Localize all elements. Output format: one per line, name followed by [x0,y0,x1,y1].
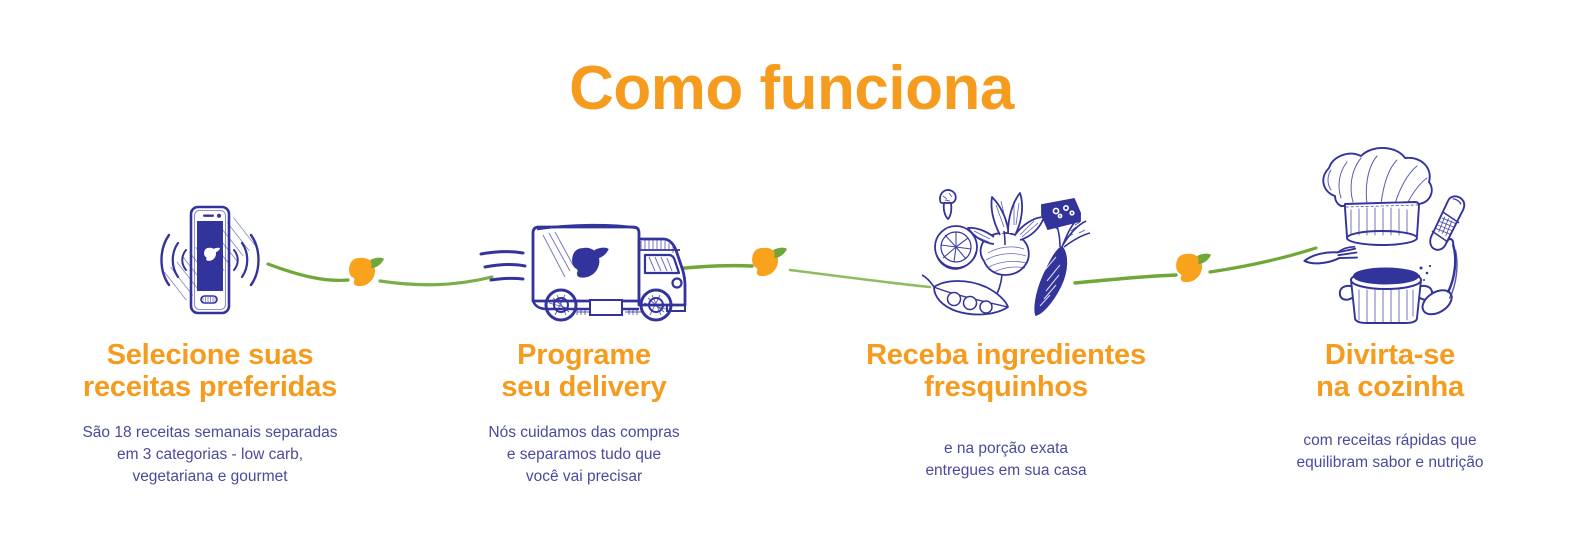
step-heading-line-2: receitas preferidas [32,371,388,403]
step-selecione: Selecione suas receitas preferidas São 1… [32,140,388,520]
step-receba: Receba ingredientes fresquinhos e na por… [836,140,1176,520]
mango-icon [1176,254,1211,283]
how-it-works-infographic: Como funciona [0,0,1583,541]
step-description-line-3: vegetariana e gourmet [32,466,388,488]
step-description: São 18 receitas semanais separadas em 3 … [32,422,388,488]
step-description-line-1: São 18 receitas semanais separadas [32,422,388,444]
step-description-line-2: entregues em sua casa [836,460,1176,482]
chef-hat-cookware-icon [1293,140,1488,325]
step-description: com receitas rápidas que equilibram sabo… [1240,430,1540,474]
step-divirta-se: Divirta-se na cozinha com receitas rápid… [1240,140,1540,520]
page-title: Como funciona [0,56,1583,121]
step-heading: Divirta-se na cozinha [1240,339,1540,404]
step-heading-line-2: seu delivery [435,371,733,403]
step-programe: Programe seu delivery Nós cuidamos das c… [435,140,733,520]
step-heading-line-1: Selecione suas [32,339,388,371]
step-heading-line-1: Programe [435,339,733,371]
step-heading-line-1: Receba ingredientes [836,339,1176,371]
step-description-line-1: com receitas rápidas que [1240,430,1540,452]
step-description: Nós cuidamos das compras e separamos tud… [435,422,733,488]
mango-icon [752,248,787,277]
step-heading-line-2: fresquinhos [836,371,1176,403]
step-heading: Selecione suas receitas preferidas [32,339,388,404]
step-icon-wrapper [32,140,388,325]
step-heading: Programe seu delivery [435,339,733,404]
step-icon-wrapper [1240,140,1540,325]
step-heading-line-1: Divirta-se [1240,339,1540,371]
delivery-truck-icon [477,205,692,325]
step-heading-line-2: na cozinha [1240,371,1540,403]
smartphone-vibrating-icon [135,195,285,325]
step-heading: Receba ingredientes fresquinhos [836,339,1176,404]
step-description-line-2: equilibram sabor e nutrição [1240,452,1540,474]
step-description-line-2: em 3 categorias - low carb, [32,444,388,466]
step-description-line-1: e na porção exata [836,438,1176,460]
step-icon-wrapper [435,140,733,325]
step-description-line-1: Nós cuidamos das compras [435,422,733,444]
step-description-line-3: você vai precisar [435,466,733,488]
fresh-vegetables-icon [916,175,1096,325]
step-icon-wrapper [836,140,1176,325]
step-description-line-2: e separamos tudo que [435,444,733,466]
step-description: e na porção exata entregues em sua casa [836,438,1176,482]
